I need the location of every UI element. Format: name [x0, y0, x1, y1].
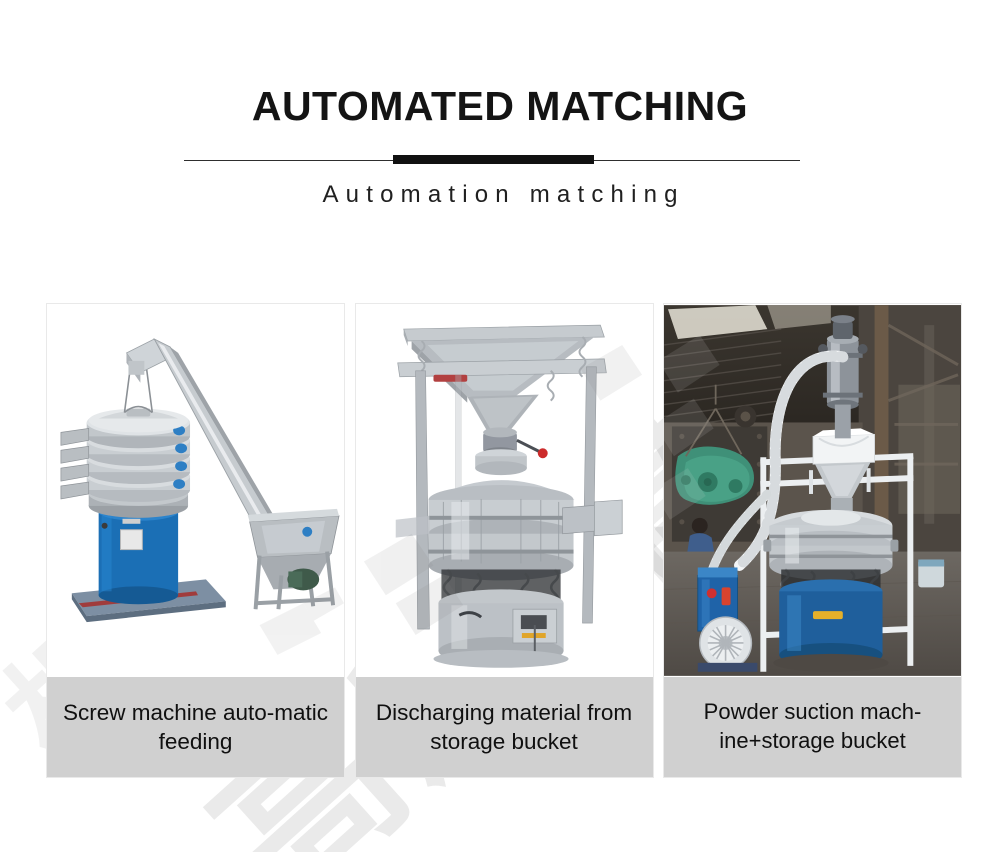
card-caption-text: Screw machine auto-matic feeding — [57, 698, 334, 757]
page-title: AUTOMATED MATCHING — [0, 0, 1000, 127]
card-grid: Screw machine auto-matic feeding — [46, 303, 962, 778]
card-caption-screw-feeding: Screw machine auto-matic feeding — [47, 677, 344, 777]
page-header: AUTOMATED MATCHING Automation matching — [0, 0, 1000, 208]
title-divider — [0, 154, 1000, 168]
card-screw-feeding[interactable]: Screw machine auto-matic feeding — [46, 303, 345, 778]
page-root: AUTOMATED MATCHING Automation matching — [0, 0, 1000, 852]
page-subtitle: Automation matching — [0, 168, 1000, 208]
card-caption-text: Discharging material from storage bucket — [366, 698, 643, 757]
card-photo-screw-feeding — [47, 304, 344, 677]
card-photo-discharging-storage-bucket — [356, 304, 653, 677]
card-discharging-storage-bucket[interactable]: Discharging material from storage bucket — [355, 303, 654, 778]
card-caption-text: Powder suction mach-ine+storage bucket — [674, 698, 951, 755]
divider-bar-icon — [393, 155, 594, 164]
card-powder-suction-storage-bucket[interactable]: Powder suction mach-ine+storage bucket — [663, 303, 962, 778]
card-caption-discharging-storage-bucket: Discharging material from storage bucket — [356, 677, 653, 777]
card-photo-powder-suction-storage-bucket — [664, 304, 961, 677]
card-caption-powder-suction-storage-bucket: Powder suction mach-ine+storage bucket — [664, 677, 961, 777]
